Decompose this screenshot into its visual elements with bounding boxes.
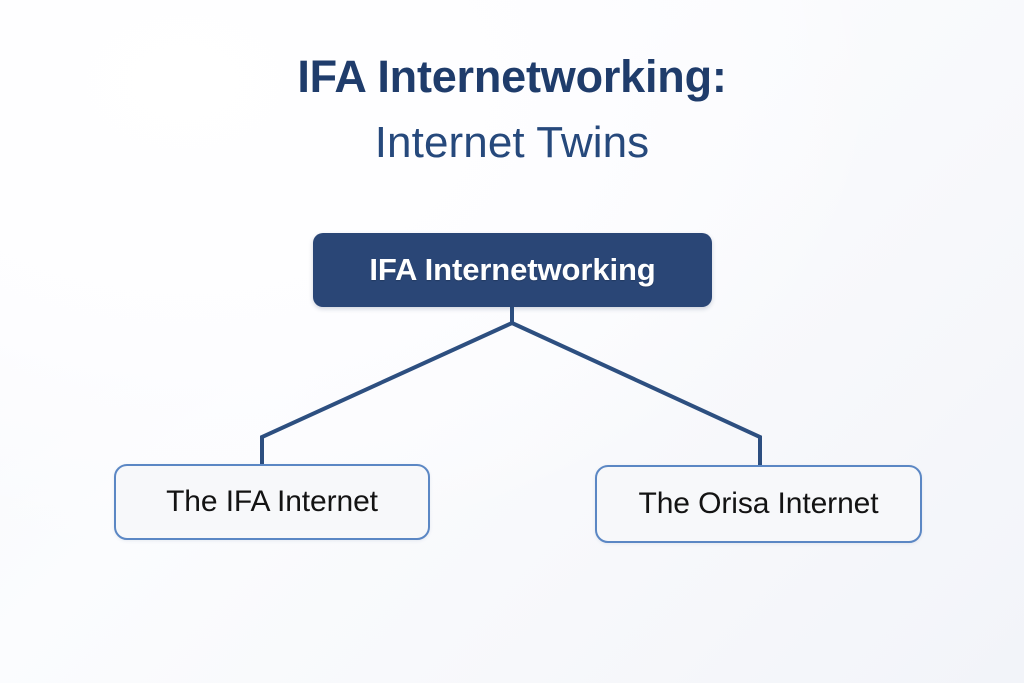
slide-canvas: IFA Internetworking: Internet Twins IFA … (0, 0, 1024, 683)
diagram-node-the-ifa-internet[interactable]: The IFA Internet (114, 464, 430, 540)
diagram-node-root[interactable]: IFA Internetworking (313, 233, 712, 307)
connector-branch-right (512, 323, 760, 467)
diagram-node-the-orisa-internet-label: The Orisa Internet (639, 487, 879, 521)
diagram-node-root-label: IFA Internetworking (369, 252, 655, 288)
diagram-node-the-ifa-internet-label: The IFA Internet (166, 485, 378, 519)
connector-branch-left (262, 323, 512, 466)
diagram-node-the-orisa-internet[interactable]: The Orisa Internet (595, 465, 922, 543)
page-title-line-1: IFA Internetworking: (0, 54, 1024, 99)
page-title: IFA Internetworking: Internet Twins (0, 54, 1024, 165)
page-title-line-2: Internet Twins (0, 121, 1024, 165)
